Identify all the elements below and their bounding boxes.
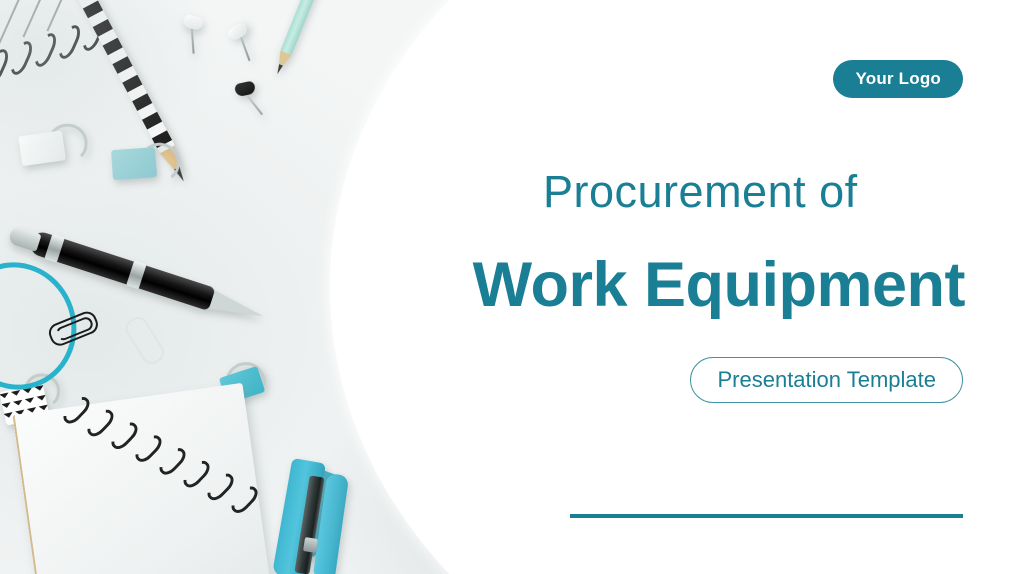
presentation-slide: Your Logo Procurement of Work Equipment … <box>0 0 1020 574</box>
slide-title-line-1: Procurement of <box>543 167 963 217</box>
slide-content: Your Logo Procurement of Work Equipment … <box>0 0 1020 574</box>
subtitle-badge: Presentation Template <box>690 357 963 403</box>
slide-title-line-2: Work Equipment <box>473 252 965 318</box>
logo-badge[interactable]: Your Logo <box>833 60 963 98</box>
accent-divider <box>570 514 963 518</box>
